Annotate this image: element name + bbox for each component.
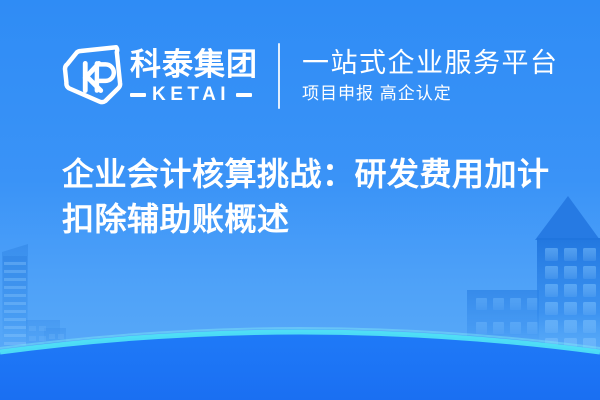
page-title: 企业会计核算挑战：研发费用加计 扣除辅助账概述: [62, 152, 562, 242]
logo-english-name: KETAI: [146, 85, 236, 105]
logo-dash-left-icon: [130, 93, 146, 97]
banner-header: 科泰集团 KETAI 一站式企业服务平台 项目申报 高企认定: [62, 36, 559, 116]
bottom-curved-wave: [0, 290, 600, 400]
building-right-wide: [467, 290, 539, 354]
page-title-line-1: 企业会计核算挑战：研发费用加计: [62, 152, 562, 197]
logo-dash-right-icon: [236, 93, 252, 97]
promo-banner: 科泰集团 KETAI 一站式企业服务平台 项目申报 高企认定 企业会计核算挑战：…: [0, 0, 600, 400]
logo-chinese-name: 科泰集团: [130, 48, 258, 82]
tagline-block: 一站式企业服务平台 项目申报 高企认定: [302, 40, 559, 112]
tagline-sub-text: 项目申报 高企认定: [302, 83, 559, 105]
building-left-small: [26, 320, 66, 354]
building-left-tall: [2, 244, 28, 352]
logo-wordmark: 科泰集团 KETAI: [130, 44, 258, 108]
header-divider: [278, 43, 280, 109]
logo-english-row: KETAI: [130, 85, 258, 105]
ketai-logo[interactable]: 科泰集团 KETAI: [62, 40, 258, 112]
page-title-line-2: 扣除辅助账概述: [62, 197, 562, 242]
ketai-diamond-kp-logo-icon: [62, 45, 124, 107]
tagline-main-text: 一站式企业服务平台: [302, 47, 559, 79]
